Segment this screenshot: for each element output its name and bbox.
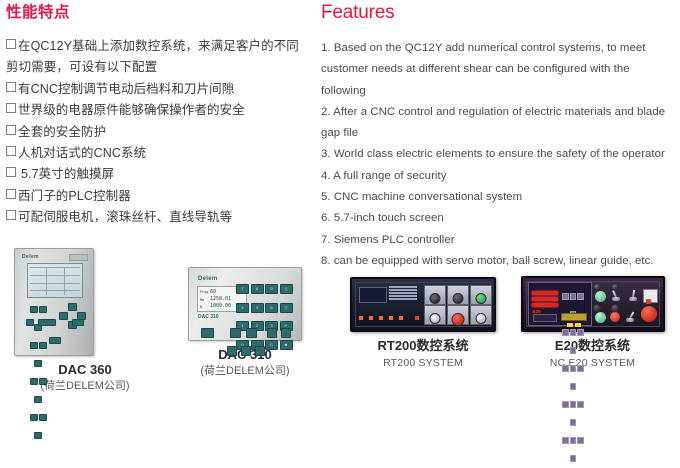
list-item: 3. World class electric elements to ensu…	[321, 144, 673, 165]
e20-panel: E20	[521, 276, 665, 332]
product-image-dac-360: Delem	[0, 248, 170, 356]
list-item-label: 在QC12Y基础上添加数控系统，来满足客户的不同剪切需要，可设有以下配置	[6, 39, 299, 74]
list-item-label: 全套的安全防护	[18, 125, 106, 139]
chinese-features-column: 性能特点 在QC12Y基础上添加数控系统，来满足客户的不同剪切需要，可设有以下配…	[6, 4, 311, 229]
list-item: 西门子的PLC控制器	[6, 186, 311, 207]
product-image-e20: E20	[505, 276, 680, 332]
display-row3-label: N	[200, 305, 202, 309]
display-row1-label: Prog	[200, 290, 208, 294]
product-e20: E20	[505, 248, 680, 370]
e20-soft-keys[interactable]	[533, 314, 557, 322]
product-dac-360: Delem	[0, 248, 170, 393]
dac-360-function-keys[interactable]	[23, 313, 87, 349]
product-caption-title: RT200数控系统	[333, 338, 513, 353]
english-section-heading: Features	[321, 2, 673, 24]
product-dac-310: Delem Prog 60 Mm 1250.01 N 1000.00 DAC 3…	[155, 248, 335, 378]
product-caption-subtitle: RT200 SYSTEM	[333, 356, 513, 370]
rt200-selector-switch[interactable]	[424, 285, 446, 305]
dac-310-model-label: DAC 310	[198, 314, 219, 320]
list-item-label: 人机对话式的CNC系统	[18, 146, 146, 160]
rt200-reset-button[interactable]	[470, 305, 492, 325]
e20-display-area: E20	[528, 282, 592, 326]
list-item: 可配伺服电机，滚珠丝杆、直线导轨等	[6, 207, 311, 228]
dac-360-panel: Delem	[14, 248, 94, 356]
list-item: 5.7英寸的触摸屏	[6, 164, 311, 185]
checkbox-icon	[6, 125, 16, 135]
checkbox-icon	[6, 189, 16, 199]
product-rt200: RT200数控系统 RT200 SYSTEM	[333, 248, 513, 370]
rt200-indicator-leds	[359, 307, 431, 325]
display-row2-value: 1250.01	[210, 296, 231, 302]
e20-indicator-lamp-3	[593, 304, 601, 312]
e20-control-cluster[interactable]	[593, 281, 659, 327]
rt200-panel	[350, 277, 496, 332]
e20-toggle-switch-1[interactable]	[612, 290, 620, 301]
chinese-section-heading: 性能特点	[6, 4, 311, 22]
e20-toggle-switch-2[interactable]	[629, 290, 637, 301]
rt200-display	[359, 287, 387, 303]
checkbox-icon	[6, 103, 16, 113]
e20-warning-indicators	[561, 313, 587, 321]
list-item: 2. After a CNC control and regulation of…	[321, 102, 673, 145]
dac-310-panel: Delem Prog 60 Mm 1250.01 N 1000.00 DAC 3…	[188, 267, 302, 341]
checkbox-icon	[6, 82, 16, 92]
e20-alarm-lamp	[646, 299, 651, 304]
product-caption-title: E20数控系统	[505, 338, 680, 353]
list-item: 人机对话式的CNC系统	[6, 143, 311, 164]
checkbox-icon	[6, 39, 16, 49]
list-item: 4. A full range of security	[321, 166, 673, 187]
display-row2-label: Mm	[200, 298, 204, 302]
rt200-mode-switch[interactable]	[447, 285, 469, 305]
list-item-label: 5.7英寸的触摸屏	[21, 167, 114, 181]
list-item-label: 可配伺服电机，滚珠丝杆、直线导轨等	[18, 210, 232, 224]
english-feature-list: 1. Based on the QC12Y add numerical cont…	[321, 38, 673, 272]
list-item: 在QC12Y基础上添加数控系统，来满足客户的不同剪切需要，可设有以下配置	[6, 36, 311, 79]
chinese-feature-list: 在QC12Y基础上添加数控系统，来满足客户的不同剪切需要，可设有以下配置 有CN…	[6, 36, 311, 229]
delem-brand-label: Delem	[198, 276, 218, 282]
list-item: 1. Based on the QC12Y add numerical cont…	[321, 38, 673, 102]
e20-indicator-lamp-4	[611, 304, 619, 312]
status-strip	[69, 254, 88, 261]
display-row1-value: 60	[210, 289, 216, 295]
product-image-rt200	[333, 277, 513, 332]
delem-brand-label: Delem	[22, 254, 39, 260]
list-item: 有CNC控制调节电动后档料和刀片间隙	[6, 79, 311, 100]
e20-seven-segment-display	[532, 291, 558, 309]
product-caption-subtitle: NC E20 SYSTEM	[505, 356, 680, 370]
dac-360-screen	[27, 263, 83, 298]
e20-green-button-2[interactable]	[595, 312, 606, 323]
e20-red-button[interactable]	[610, 312, 620, 322]
list-item: 6. 5.7-inch touch screen	[321, 208, 673, 229]
display-row3-value: 1000.00	[210, 303, 231, 309]
product-caption-subtitle: (荷兰DELEM公司)	[155, 364, 335, 378]
list-item-label: 西门子的PLC控制器	[18, 189, 131, 203]
rt200-emergency-stop-button[interactable]	[447, 305, 469, 325]
e20-toggle-switch-3[interactable]	[626, 311, 634, 322]
list-item: 全套的安全防护	[6, 122, 311, 143]
checkbox-icon	[6, 146, 16, 156]
rt200-key-switch[interactable]	[424, 305, 446, 325]
english-features-column: Features 1. Based on the QC12Y add numer…	[321, 2, 673, 272]
list-item: 5. CNC machine conversational system	[321, 187, 673, 208]
rt200-label-block	[389, 286, 417, 303]
e20-emergency-stop-button[interactable]	[641, 306, 657, 322]
list-item-label: 世界级的电器原件能够确保操作者的安全	[18, 103, 245, 117]
dac-310-bottom-controls[interactable]	[196, 325, 296, 335]
product-gallery: Delem	[0, 248, 680, 402]
e20-indicator-lamp-1	[593, 283, 601, 291]
rt200-control-cluster[interactable]	[424, 284, 489, 325]
list-item-label: 有CNC控制调节电动后档料和刀片间隙	[18, 82, 234, 96]
rt200-start-button[interactable]	[470, 285, 492, 305]
product-image-dac-310: Delem Prog 60 Mm 1250.01 N 1000.00 DAC 3…	[155, 267, 335, 341]
list-item: 世界级的电器原件能够确保操作者的安全	[6, 100, 311, 121]
checkbox-icon	[6, 210, 16, 220]
checkbox-icon	[6, 167, 16, 177]
e20-green-button-1[interactable]	[595, 291, 606, 302]
